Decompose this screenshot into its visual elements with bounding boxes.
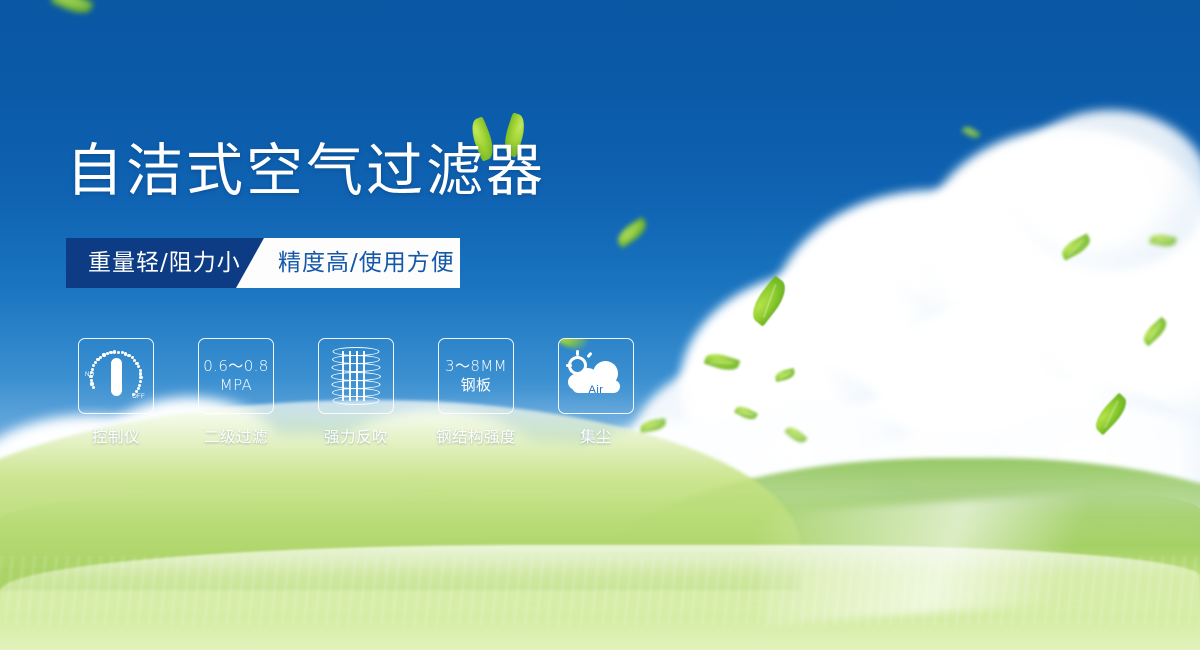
- steel-material: 钢板: [445, 376, 507, 395]
- gauge-tick: [139, 372, 142, 375]
- pressure-text-icon: 0.6～0.8 MPA: [203, 357, 269, 395]
- subtitle-bar: 重量轻/阻力小 精度高/使用方便: [66, 238, 460, 288]
- grass-texture: [0, 556, 1200, 626]
- gauge-tick: [102, 353, 105, 356]
- feature-tile: 0.6～0.8 MPA: [198, 338, 274, 414]
- feature-label: 二级过滤: [204, 425, 268, 447]
- air-label: Air: [566, 384, 626, 396]
- feature-label: 控制仪: [92, 425, 140, 447]
- gauge-tick: [139, 380, 142, 383]
- gauge-tick: [89, 375, 92, 378]
- gauge-tick: [91, 368, 94, 371]
- steel-thickness: 3～8MM: [445, 357, 507, 376]
- feature-list: NO OFF 控制仪 0.6～0.8 MPA 二级过滤 强: [78, 338, 634, 447]
- feature-tile: 3～8MM 钢板: [438, 338, 514, 414]
- gauge-tick: [94, 361, 97, 364]
- feature-item-controller[interactable]: NO OFF 控制仪: [78, 338, 154, 447]
- gauge-tick: [135, 390, 138, 393]
- gauge-tick: [139, 376, 142, 379]
- subtitle-left-text: 重量轻/阻力小: [88, 238, 241, 288]
- feature-label: 钢结构强度: [436, 425, 516, 447]
- feature-tile: [318, 338, 394, 414]
- product-banner: 自洁式空气过滤器 重量轻/阻力小 精度高/使用方便 NO OFF 控制仪 0.6…: [0, 0, 1200, 650]
- feature-item-dustcollect[interactable]: Air 集尘: [558, 338, 634, 447]
- pressure-unit: MPA: [203, 376, 269, 395]
- feature-label: 集尘: [580, 425, 612, 447]
- cloud-air-icon: Air: [566, 350, 626, 402]
- gauge-tick: [92, 364, 95, 367]
- feature-tile: NO OFF: [78, 338, 154, 414]
- feature-tile: Air: [558, 338, 634, 414]
- gauge-icon: NO OFF: [85, 345, 147, 407]
- gauge-tick: [92, 386, 95, 389]
- gauge-tick: [137, 365, 140, 368]
- page-title: 自洁式空气过滤器: [66, 136, 546, 206]
- feature-item-backblow[interactable]: 强力反吹: [318, 338, 394, 447]
- gauge-tick: [90, 382, 93, 385]
- pressure-value: 0.6～0.8: [203, 357, 269, 376]
- gauge-tick: [117, 351, 120, 354]
- filter-coil-icon: [331, 347, 381, 405]
- subtitle-right-text: 精度高/使用方便: [278, 238, 455, 288]
- feature-item-steel[interactable]: 3～8MM 钢板 钢结构强度: [438, 338, 514, 447]
- gauge-tick: [113, 350, 116, 353]
- coil-ring: [333, 396, 380, 405]
- gauge-tick: [109, 351, 112, 354]
- feature-label: 强力反吹: [324, 425, 388, 447]
- feature-item-filtration[interactable]: 0.6～0.8 MPA 二级过滤: [198, 338, 274, 447]
- steel-plate-text-icon: 3～8MM 钢板: [445, 357, 507, 395]
- gauge-tick: [90, 379, 93, 382]
